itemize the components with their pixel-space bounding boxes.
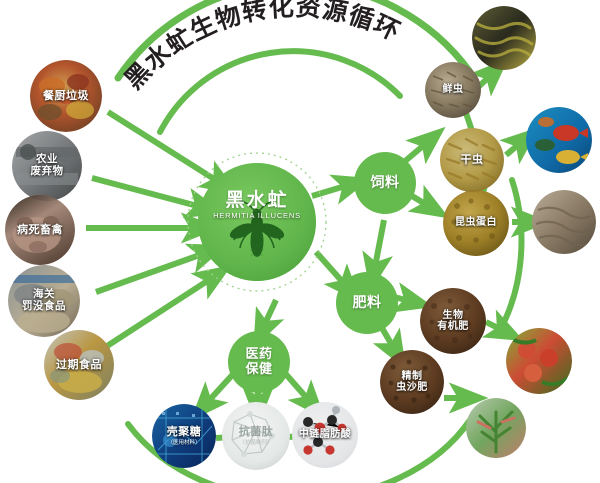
page-title: 黑水虻生物转化资源循环: [120, 0, 405, 95]
title-container: 黑水虻生物转化资源循环: [0, 0, 600, 140]
infographic-canvas: 黑水虻生物转化资源循环 餐厨垃圾 农业 废弃物: [0, 0, 600, 483]
title-arc-svg: 黑水虻生物转化资源循环: [0, 0, 600, 483]
svg-text:黑水虻生物转化资源循环: 黑水虻生物转化资源循环: [120, 0, 405, 95]
